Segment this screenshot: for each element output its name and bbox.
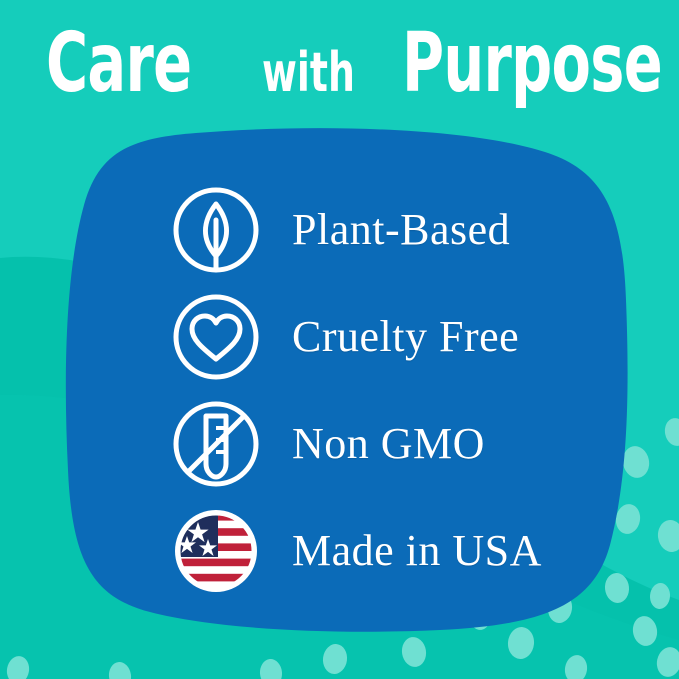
feature-list: Plant-Based Cruelty Free — [168, 176, 588, 604]
pet-care-poster: Pet Care with Purpose ® Plant-Based — [0, 0, 679, 679]
feature-label-plant-based: Plant-Based — [292, 208, 510, 252]
feature-row-non-gmo: Non GMO — [168, 390, 588, 497]
feature-label-made-in-usa: Made in USA — [292, 529, 542, 573]
feature-label-non-gmo: Non GMO — [292, 422, 485, 466]
feature-row-made-in-usa: Made in USA — [168, 497, 588, 604]
feature-row-plant-based: Plant-Based — [168, 176, 588, 283]
leaf-icon — [168, 182, 264, 278]
no-gmo-icon — [168, 396, 264, 492]
feature-label-cruelty-free: Cruelty Free — [292, 315, 519, 359]
feature-row-cruelty-free: Cruelty Free — [168, 283, 588, 390]
heart-icon — [168, 289, 264, 385]
usa-flag-icon — [168, 503, 264, 599]
